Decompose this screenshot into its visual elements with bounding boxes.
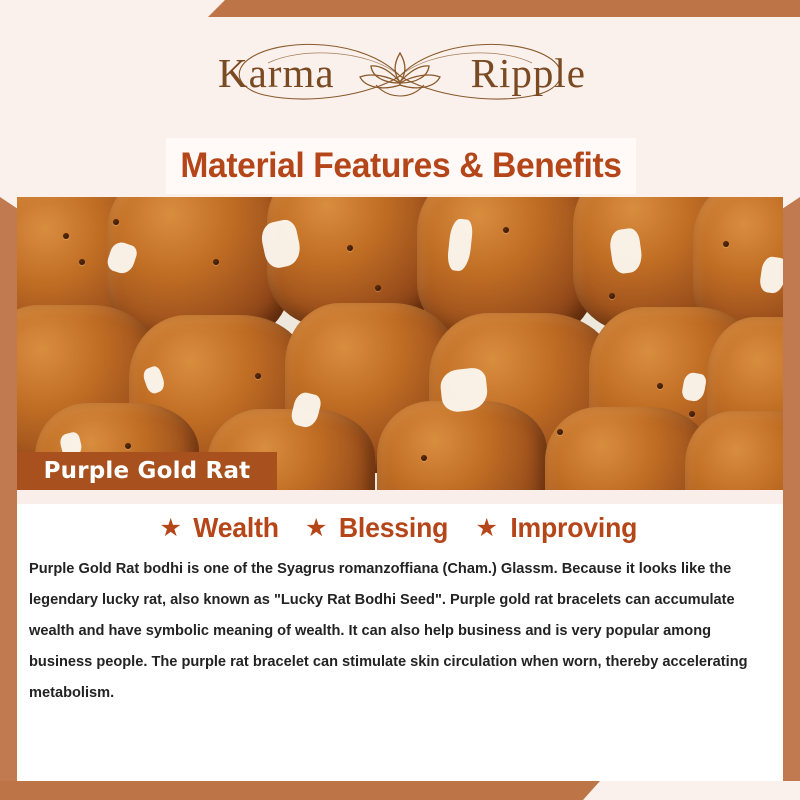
product-label-text: Purple Gold Rat	[17, 452, 277, 490]
frame-band-top	[0, 0, 800, 17]
content-card: ★ Wealth ★ Blessing ★ Improving Purple G…	[17, 504, 783, 781]
description-paragraph: Purple Gold Rat bodhi is one of the Syag…	[29, 554, 771, 709]
benefits-row: ★ Wealth ★ Blessing ★ Improving	[17, 512, 783, 544]
infographic-page: Karma Ripple Material Features & Benefit…	[0, 0, 800, 800]
lotus-flower-icon	[360, 53, 440, 96]
frame-band-bottom	[0, 781, 800, 800]
title-panel: Material Features & Benefits	[166, 138, 636, 194]
brand-header: Karma Ripple	[0, 17, 800, 135]
star-icon: ★	[476, 516, 498, 541]
brand-logo: Karma Ripple	[190, 33, 610, 119]
star-icon: ★	[160, 516, 182, 541]
brand-name-right: Ripple	[471, 49, 586, 97]
product-photo-beads	[17, 197, 783, 490]
benefit-item-improving: ★ Improving	[476, 512, 641, 544]
frame-band-left	[0, 197, 18, 781]
benefit-label: Improving	[510, 512, 637, 544]
frame-band-right	[782, 197, 800, 781]
benefit-label: Blessing	[339, 512, 448, 544]
brand-name-left: Karma	[218, 49, 335, 97]
page-title: Material Features & Benefits	[175, 138, 626, 194]
divider-strip	[17, 490, 783, 504]
benefit-label: Wealth	[193, 512, 279, 544]
benefit-item-wealth: ★ Wealth	[160, 512, 282, 544]
product-label-banner: Purple Gold Rat	[17, 452, 277, 490]
star-icon: ★	[305, 516, 327, 541]
benefit-item-blessing: ★ Blessing	[305, 512, 452, 544]
product-photo	[17, 197, 783, 490]
